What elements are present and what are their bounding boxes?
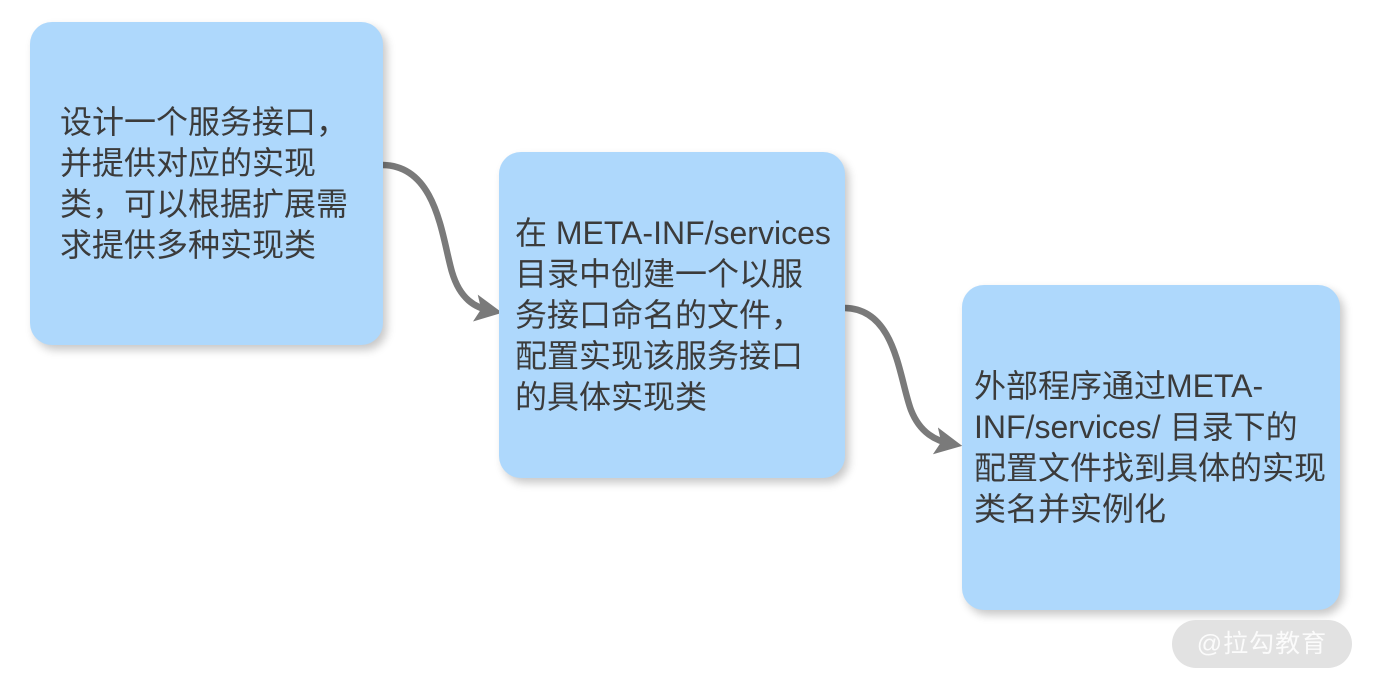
arrow-2-path xyxy=(845,308,952,444)
flow-node-1-label: 设计一个服务接口，并提供对应的实现类，可以根据扩展需求提供多种实现类 xyxy=(60,102,360,266)
watermark-label: @拉勾教育 xyxy=(1197,632,1327,657)
flow-node-create-services-file[interactable]: 在 META-INF/services 目录中创建一个以服务接口命名的文件，配置… xyxy=(499,152,845,478)
arrow-1-path xyxy=(383,165,492,311)
flow-node-design-service-interface[interactable]: 设计一个服务接口，并提供对应的实现类，可以根据扩展需求提供多种实现类 xyxy=(30,22,383,345)
flow-node-2-label: 在 META-INF/services 目录中创建一个以服务接口命名的文件，配置… xyxy=(515,213,831,418)
diagram-canvas: 设计一个服务接口，并提供对应的实现类，可以根据扩展需求提供多种实现类 在 MET… xyxy=(0,0,1377,692)
flow-node-load-implementation[interactable]: 外部程序通过META-INF/services/ 目录下的配置文件找到具体的实现… xyxy=(962,285,1340,610)
watermark-badge: @拉勾教育 xyxy=(1172,620,1352,668)
flow-node-3-label: 外部程序通过META-INF/services/ 目录下的配置文件找到具体的实现… xyxy=(974,366,1326,530)
